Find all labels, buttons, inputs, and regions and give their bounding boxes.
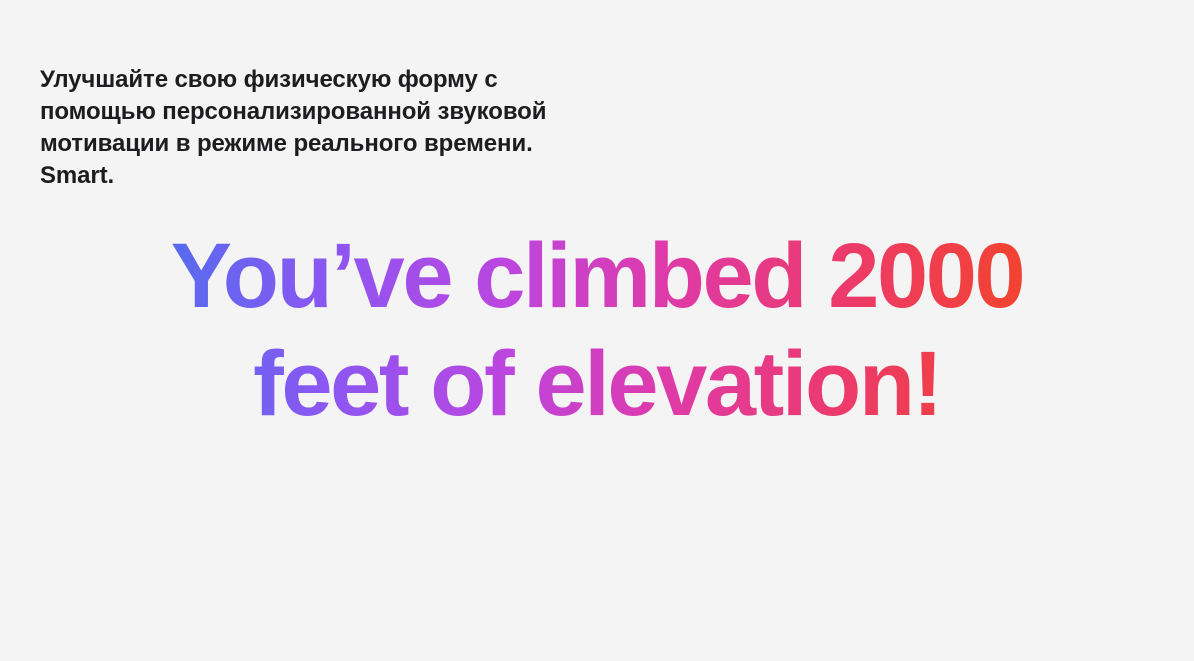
description-paragraph: Улучшайте свою физическую форму с помощь… xyxy=(40,64,660,192)
gradient-headline: You’ve climbed 2000 feet of elevation! xyxy=(0,222,1194,438)
promo-page: Улучшайте свою физическую форму с помощь… xyxy=(0,0,1194,661)
headline-line-1: You’ve climbed 2000 xyxy=(0,222,1194,330)
headline-line-2: feet of elevation! xyxy=(0,330,1194,438)
